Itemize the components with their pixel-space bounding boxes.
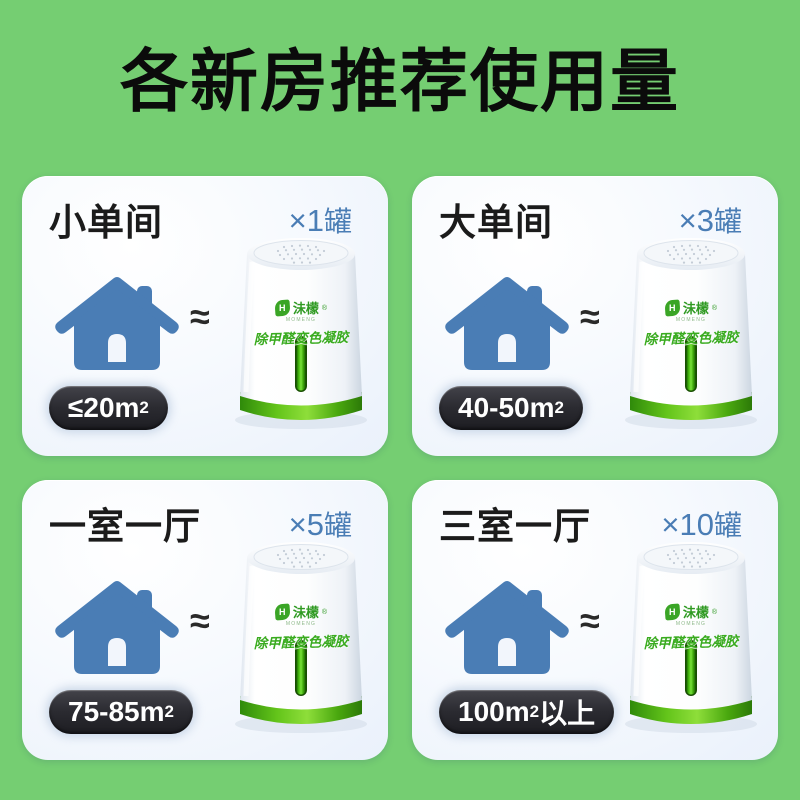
area-value: 40-50m xyxy=(458,392,555,424)
area-badge: ≤20m2 xyxy=(49,386,168,430)
area-badge: 75-85m2 xyxy=(49,690,193,734)
page-title: 各新房推荐使用量 xyxy=(0,40,800,125)
usage-card[interactable]: 小单间 ×1罐 ≈ ≤20m2 xyxy=(22,176,388,456)
usage-card[interactable]: 大单间 ×3罐 ≈ 40-50m2 xyxy=(412,176,778,456)
house-icon xyxy=(52,574,182,682)
approx-equal-icon: ≈ xyxy=(580,603,600,639)
usage-card[interactable]: 一室一厅 ×5罐 ≈ 75-85m2 xyxy=(22,480,388,760)
room-type-label: 三室一厅 xyxy=(439,496,591,550)
approx-equal-icon: ≈ xyxy=(580,299,600,335)
product-can-icon: H 沬檬® MOMENG 除甲醛变色凝胶 xyxy=(222,528,380,736)
usage-card-grid: 小单间 ×1罐 ≈ ≤20m2 xyxy=(22,176,778,776)
area-value: 100m xyxy=(458,696,530,728)
area-value: 75-85m xyxy=(68,696,165,728)
house-icon xyxy=(442,574,572,682)
area-suffix: 以上 xyxy=(539,692,595,732)
approx-equal-icon: ≈ xyxy=(190,603,210,639)
area-badge: 40-50m2 xyxy=(439,386,583,430)
product-can-icon: H 沬檬® MOMENG 除甲醛变色凝胶 xyxy=(222,224,380,432)
product-can-icon: H 沬檬® MOMENG 除甲醛变色凝胶 xyxy=(612,224,770,432)
approx-equal-icon: ≈ xyxy=(190,299,210,335)
area-badge: 100m2以上 xyxy=(439,690,614,734)
house-icon xyxy=(442,270,572,378)
room-type-label: 大单间 xyxy=(439,192,553,246)
room-type-label: 一室一厅 xyxy=(49,496,201,550)
product-can-icon: H 沬檬® MOMENG 除甲醛变色凝胶 xyxy=(612,528,770,736)
usage-card[interactable]: 三室一厅 ×10罐 ≈ 100m2以上 xyxy=(412,480,778,760)
house-icon xyxy=(52,270,182,378)
area-value: ≤20m xyxy=(68,392,139,424)
room-type-label: 小单间 xyxy=(49,192,163,246)
